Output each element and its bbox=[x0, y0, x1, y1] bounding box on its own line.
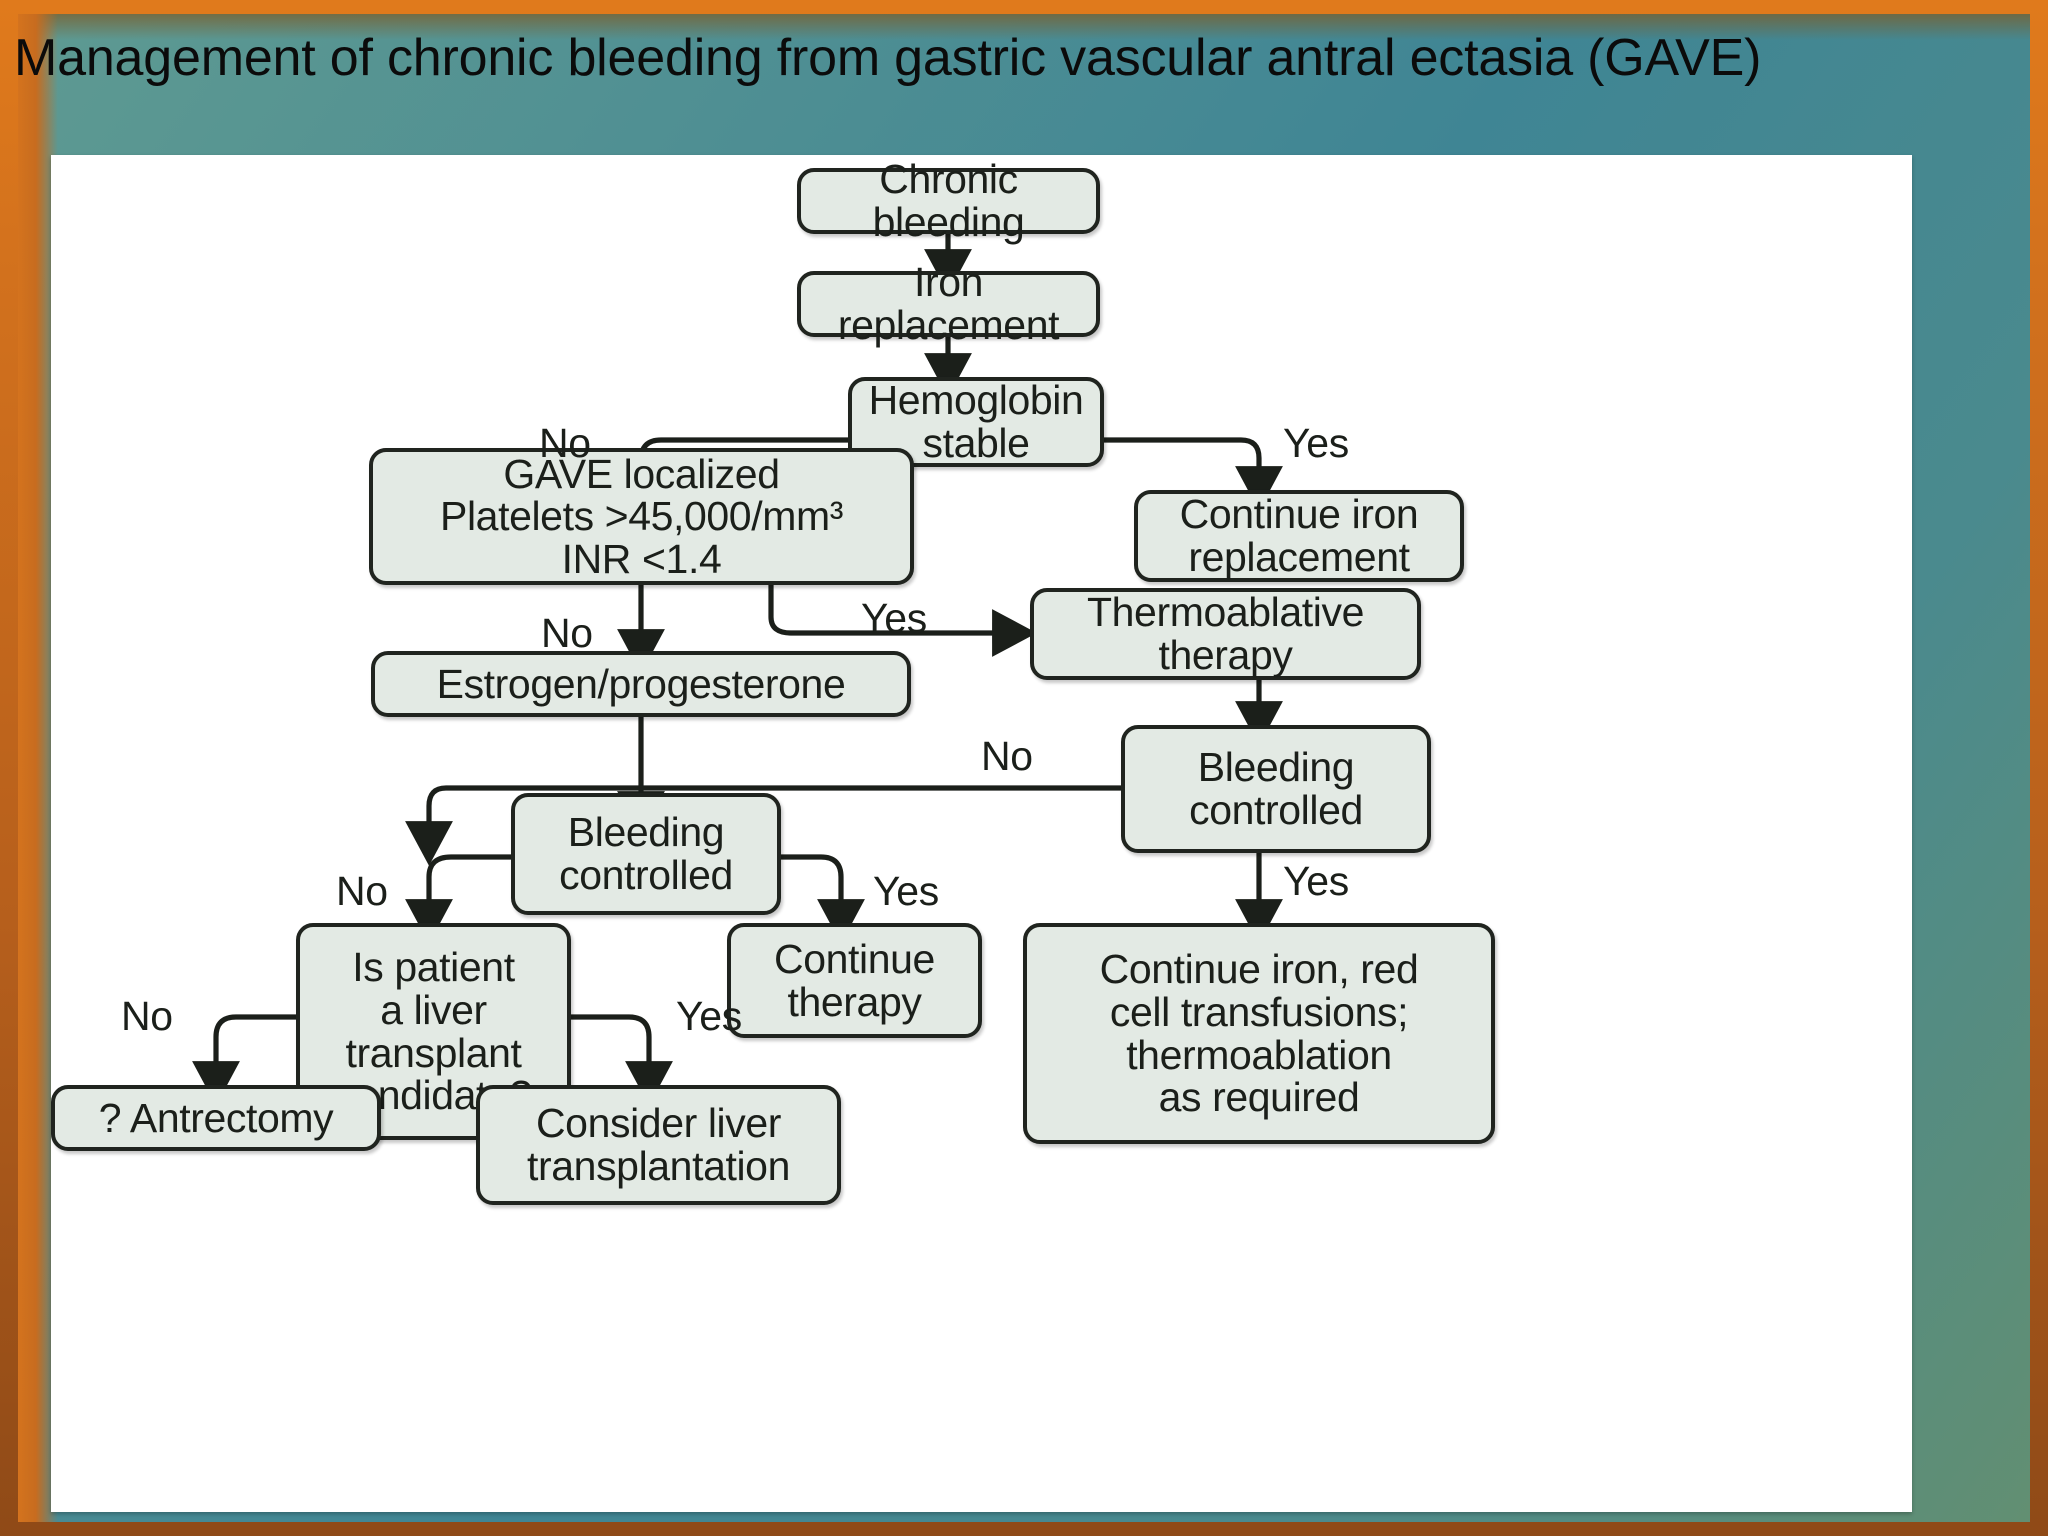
node-continue-iron-replacement[interactable]: Continue iron replacement bbox=[1134, 490, 1464, 582]
flowchart-connectors bbox=[51, 155, 1912, 1512]
flowchart: Chronic bleeding Iron replacement Hemogl… bbox=[51, 155, 1912, 1512]
edge-label-mid-bleeding-no: No bbox=[336, 868, 388, 915]
edge-label-mid-bleeding-yes: Yes bbox=[873, 868, 939, 915]
node-chronic-bleeding[interactable]: Chronic bleeding bbox=[797, 168, 1100, 234]
edge-label-hemoglobin-no: No bbox=[539, 420, 591, 467]
node-continue-iron-rbc[interactable]: Continue iron, red cell transfusions; th… bbox=[1023, 923, 1495, 1144]
edge-label-liver-yes: Yes bbox=[676, 993, 742, 1040]
node-bleeding-controlled-mid[interactable]: Bleeding controlled bbox=[511, 793, 781, 915]
page-title: Management of chronic bleeding from gast… bbox=[14, 30, 1974, 86]
slide-canvas: Management of chronic bleeding from gast… bbox=[0, 0, 2048, 1536]
node-antrectomy[interactable]: ? Antrectomy bbox=[51, 1085, 381, 1151]
node-gave-localized[interactable]: GAVE localized Platelets >45,000/mm³ INR… bbox=[369, 448, 914, 585]
flowchart-panel: Chronic bleeding Iron replacement Hemogl… bbox=[51, 155, 1912, 1512]
node-iron-replacement[interactable]: Iron replacement bbox=[797, 271, 1100, 337]
node-consider-liver-transplantation[interactable]: Consider liver transplantation bbox=[476, 1085, 841, 1205]
edge-label-right-bleeding-yes: Yes bbox=[1283, 858, 1349, 905]
edge-label-gave-yes: Yes bbox=[861, 595, 927, 642]
edge-label-right-bleeding-no: No bbox=[981, 733, 1033, 780]
node-estrogen-progesterone[interactable]: Estrogen/progesterone bbox=[371, 651, 911, 717]
node-continue-therapy[interactable]: Continue therapy bbox=[727, 923, 982, 1038]
edge-label-hemoglobin-yes: Yes bbox=[1283, 420, 1349, 467]
node-thermoablative-therapy[interactable]: Thermoablative therapy bbox=[1030, 588, 1421, 680]
edge-label-gave-no: No bbox=[541, 610, 593, 657]
node-bleeding-controlled-right[interactable]: Bleeding controlled bbox=[1121, 725, 1431, 853]
edge-label-liver-no: No bbox=[121, 993, 173, 1040]
